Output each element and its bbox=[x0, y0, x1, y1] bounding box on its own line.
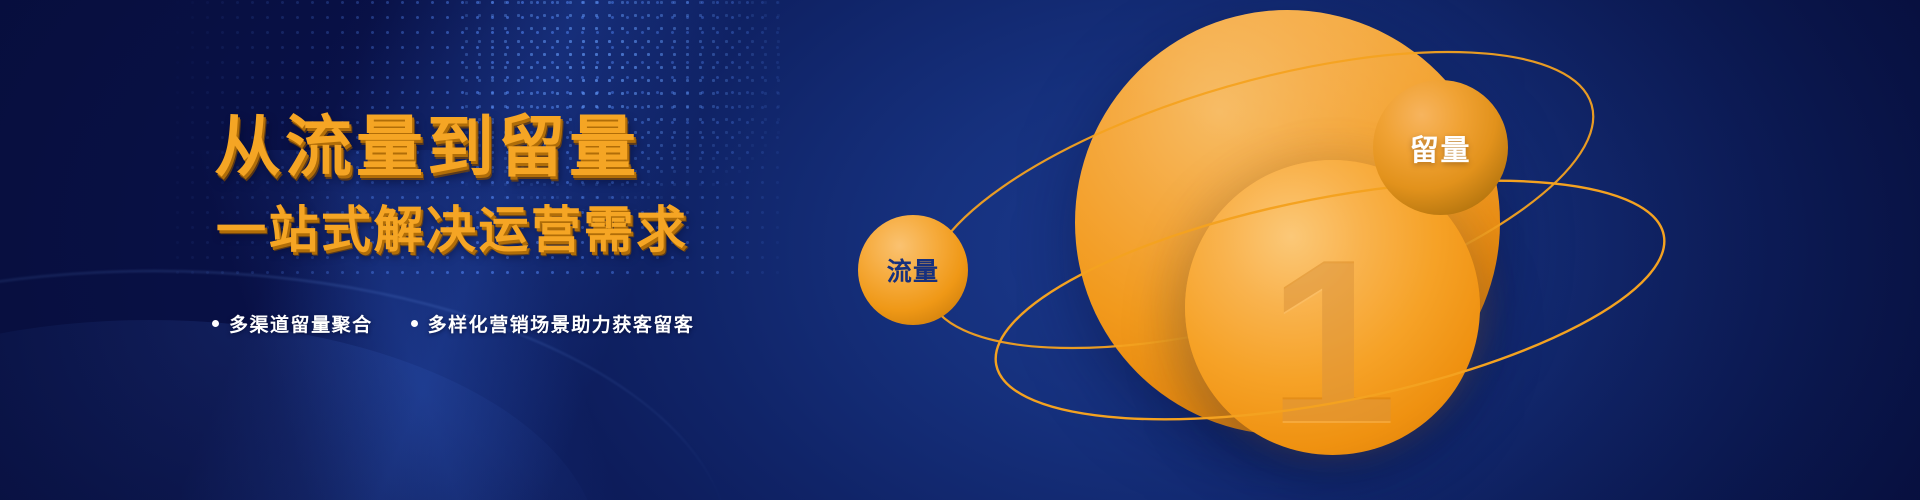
headline-primary: 从流量到留量 bbox=[214, 114, 640, 181]
feature-bullet-1: 多渠道留量聚合 bbox=[212, 310, 373, 337]
orbit-rings-front bbox=[860, 0, 1920, 500]
sphere-node-liangliang-label: 留量 bbox=[1410, 127, 1471, 169]
sphere-node-liuliang-label: 流量 bbox=[887, 252, 940, 288]
bullet-dot-icon bbox=[411, 320, 418, 327]
feature-bullet-1-label: 多渠道留量聚合 bbox=[229, 310, 373, 337]
bullet-dot-icon bbox=[212, 320, 219, 327]
headline-secondary: 一站式解决运营需求 bbox=[216, 205, 689, 255]
copy-block: 从流量到留量 一站式解决运营需求 多渠道留量聚合 多样化营销场景助力获客留客 bbox=[0, 0, 860, 500]
promo-banner: 从流量到留量 一站式解决运营需求 多渠道留量聚合 多样化营销场景助力获客留客 1 bbox=[0, 0, 1920, 500]
feature-bullet-2: 多样化营销场景助力获客留客 bbox=[411, 310, 695, 337]
hero-illustration: 1 流量 留量 bbox=[860, 0, 1920, 500]
sphere-node-liuliang: 流量 bbox=[858, 215, 968, 325]
feature-bullet-list: 多渠道留量聚合 多样化营销场景助力获客留客 bbox=[212, 310, 694, 337]
feature-bullet-2-label: 多样化营销场景助力获客留客 bbox=[428, 310, 695, 337]
sphere-node-liangliang: 留量 bbox=[1373, 80, 1508, 215]
